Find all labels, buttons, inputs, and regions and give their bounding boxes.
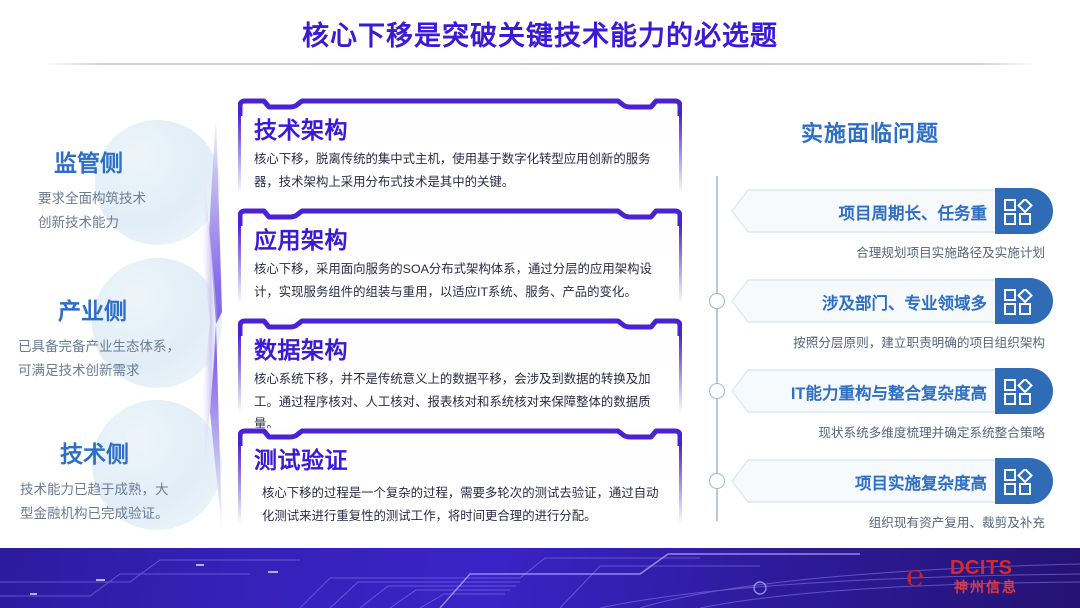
issue-item[interactable]: 项目周期长、任务重 合理规划项目实施路径及实施计划 [728,188,1053,234]
card-test-verification[interactable]: 测试验证 核心下移的过程是一个复杂的过程，需要多轮次的测试去验证，通过自动化测试… [238,428,682,532]
timeline-dot [709,473,725,489]
grid-diamond-icon [995,458,1053,504]
card-title: 应用架构 [254,221,348,255]
timeline-dot [709,293,725,309]
issue-pill[interactable]: 涉及部门、专业领域多 [728,278,1053,324]
issues-panel: 实施面临问题 项目周期长、任务重 合理规划项目实施路径及实施计划 [690,98,1080,538]
issue-label: IT能力重构与整合复杂度高 [791,380,987,404]
logo-name: DCITS [950,558,1013,578]
timeline-dot [709,383,725,399]
issue-subtext: 按照分层原则，建立职责明确的项目组织架构 [793,332,1045,351]
issue-item[interactable]: IT能力重构与整合复杂度高 现状系统多维度梳理并确定系统整合策略 [728,368,1053,414]
card-body: 核心下移的过程是一个复杂的过程，需要多轮次的测试去验证，通过自动化测试来进行重复… [262,482,666,527]
gradient-blade-arrow [196,112,230,532]
issue-label: 项目周期长、任务重 [839,200,988,224]
issue-subtext: 现状系统多维度梳理并确定系统整合策略 [818,422,1045,441]
company-logo: ℮ DCITS 神州信息 [906,556,1066,600]
issue-item[interactable]: 涉及部门、专业领域多 按照分层原则，建立职责明确的项目组织架构 [728,278,1053,324]
logo-name-cn: 神州信息 [954,580,1018,594]
grid-diamond-icon [995,368,1053,414]
issue-pill[interactable]: IT能力重构与整合复杂度高 [728,368,1053,414]
card-application-architecture[interactable]: 应用架构 核心下移，采用面向服务的SOA分布式架构体系，通过分层的应用架构设计，… [238,208,682,312]
card-technical-architecture[interactable]: 技术架构 核心下移，脱离传统的集中式主机，使用基于数字化转型应用创新的服务器，技… [238,98,682,202]
title-divider [42,63,1038,65]
card-body: 核心下移，脱离传统的集中式主机，使用基于数字化转型应用创新的服务器，技术架构上采… [254,148,666,193]
issue-pill[interactable]: 项目实施复杂度高 [728,458,1053,504]
issue-subtext: 组织现有资产复用、裁剪及补充 [869,512,1045,531]
timeline-axis [716,176,718,521]
logo-mark-icon: ℮ [906,562,924,592]
card-title: 数据架构 [254,331,348,365]
grid-diamond-icon [995,188,1053,234]
issue-label: 涉及部门、专业领域多 [822,290,987,314]
issue-label: 项目实施复杂度高 [855,470,987,494]
card-data-architecture[interactable]: 数据架构 核心系统下移，并不是传统意义上的数据平移，会涉及到数据的转换及加工。通… [238,318,682,422]
footer-banner: ℮ DCITS 神州信息 [0,548,1080,608]
issue-pill[interactable]: 项目周期长、任务重 [728,188,1053,234]
issues-panel-heading: 实施面临问题 [690,116,1050,148]
card-title: 测试验证 [254,441,348,475]
issue-item[interactable]: 项目实施复杂度高 组织现有资产复用、裁剪及补充 [728,458,1053,504]
card-body: 核心下移，采用面向服务的SOA分布式架构体系，通过分层的应用架构设计，实现服务组… [254,258,666,303]
grid-diamond-icon [995,278,1053,324]
issue-subtext: 合理规划项目实施路径及实施计划 [856,242,1045,261]
card-title: 技术架构 [254,111,348,145]
card-body: 核心系统下移，并不是传统意义上的数据平移，会涉及到数据的转换及加工。通过程序核对… [254,368,666,436]
page-title: 核心下移是突破关键技术能力的必选题 [0,14,1080,53]
architecture-cards: 技术架构 核心下移，脱离传统的集中式主机，使用基于数字化转型应用创新的服务器，技… [238,98,682,538]
